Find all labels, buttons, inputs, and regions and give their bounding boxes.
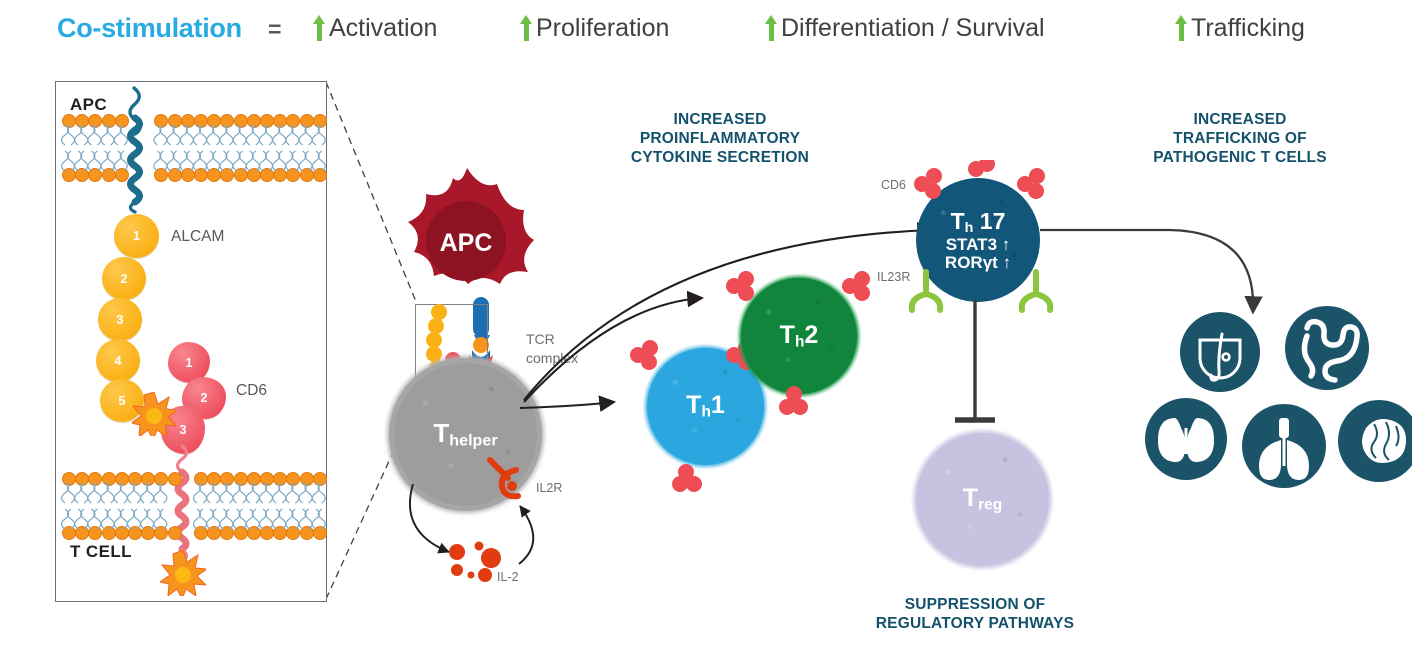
alcam-domain-4: 4 <box>96 339 140 382</box>
organ-lung <box>1242 404 1326 488</box>
treg-cell: Treg <box>920 437 1045 562</box>
equals-sign: = <box>268 16 281 43</box>
up-arrow-icon <box>1175 15 1188 41</box>
legend-item-trafficking: Trafficking <box>1175 14 1305 43</box>
il2-secretion-loop <box>395 480 570 590</box>
up-arrow-icon <box>520 15 533 41</box>
organ-kidney <box>1145 398 1227 480</box>
page-title: Co-stimulation <box>57 13 242 44</box>
up-arrow-icon <box>765 15 778 41</box>
lung-icon <box>1242 404 1326 488</box>
organ-skin <box>1180 312 1260 392</box>
legend-item-activation: Activation <box>313 14 437 43</box>
organ-intestine <box>1285 306 1369 390</box>
alcam-domain-1: 1 <box>114 214 159 258</box>
skin-icon <box>1180 312 1260 392</box>
alcam-domain-3: 3 <box>98 298 142 341</box>
alcam-transmembrane-stalk <box>56 82 326 242</box>
header-legend: Co-stimulation = Activation Proliferatio… <box>0 0 1412 66</box>
legend-label: Trafficking <box>1191 14 1305 42</box>
th1-cell-label: Th1 <box>686 392 725 421</box>
heading-proinflammatory: INCREASED PROINFLAMMATORY CYTOKINE SECRE… <box>585 110 855 167</box>
apc-cell-label: APC <box>440 229 493 257</box>
legend-item-differentiation: Differentiation / Survival <box>765 14 1045 43</box>
th17-cd6-label: CD6 <box>881 178 906 192</box>
inset-tcell-label: T CELL <box>70 542 132 562</box>
th17-il23r-label: IL23R <box>877 270 910 284</box>
alcam-label: ALCAM <box>171 228 224 246</box>
up-arrow-icon <box>313 15 326 41</box>
signaling-burst-icon <box>160 550 206 596</box>
legend-item-proliferation: Proliferation <box>520 14 669 43</box>
thelper-cell-label: Thelper <box>433 420 497 449</box>
molecular-detail-inset: APC 1 2 3 4 5 ALCAM 1 2 3 CD6 T CELL <box>55 81 327 602</box>
lipid-tails <box>56 483 326 529</box>
heading-suppression: SUPPRESSION OF REGULATORY PATHWAYS <box>830 595 1120 633</box>
alcam-domain-2: 2 <box>102 257 146 300</box>
heading-trafficking: INCREASED TRAFFICKING OF PATHOGENIC T CE… <box>1105 110 1375 167</box>
inhibition-connector <box>945 300 1005 430</box>
organ-brain <box>1338 400 1412 482</box>
intestine-icon <box>1285 306 1369 390</box>
binding-burst-icon <box>132 392 176 436</box>
il2-label: IL-2 <box>497 570 519 584</box>
tcell-membrane <box>56 472 326 538</box>
brain-icon <box>1338 400 1412 482</box>
cd6-label: CD6 <box>236 382 267 400</box>
th2-cell-label: Th2 <box>780 322 819 351</box>
legend-label: Differentiation / Survival <box>781 14 1045 42</box>
th17-cell-label: Th 17 STAT3 ↑ RORγt ↑ <box>945 209 1011 272</box>
treg-cell-label: Treg <box>963 485 1002 514</box>
kidney-icon <box>1145 398 1227 480</box>
legend-label: Proliferation <box>536 14 669 42</box>
legend-label: Activation <box>329 14 437 42</box>
